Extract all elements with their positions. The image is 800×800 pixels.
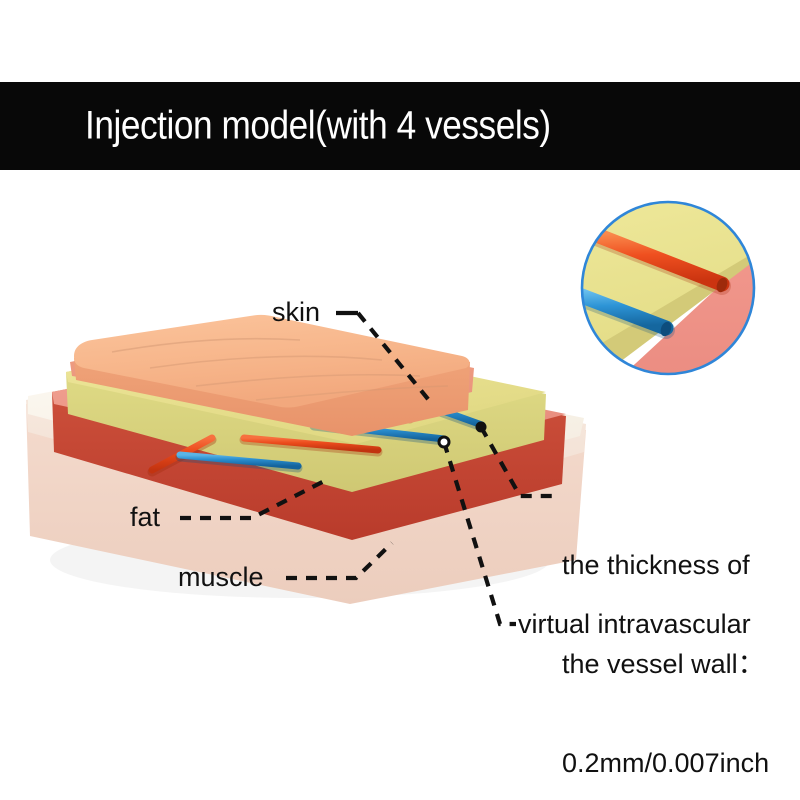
callout-label-thickness: the thickness of the vessel wall： 0.2mm/… bbox=[562, 483, 769, 800]
thickness-line-1: the thickness of bbox=[562, 549, 769, 582]
callout-label-muscle: muscle bbox=[178, 561, 264, 594]
vessel-close-up-inset bbox=[560, 196, 782, 400]
thickness-line-3: 0.2mm/0.007inch bbox=[562, 747, 769, 780]
injection-model-infographic: Injection model(with 4 vessels) bbox=[0, 0, 800, 800]
thickness-line-2: the vessel wall： bbox=[562, 648, 769, 681]
callout-label-virtual-intravascular: virtual intravascular bbox=[518, 608, 751, 641]
leader-virtual-dot bbox=[439, 437, 449, 447]
callout-label-fat: fat bbox=[130, 501, 160, 534]
leader-thickness-dot bbox=[476, 422, 487, 433]
callout-label-skin: skin bbox=[272, 296, 320, 329]
